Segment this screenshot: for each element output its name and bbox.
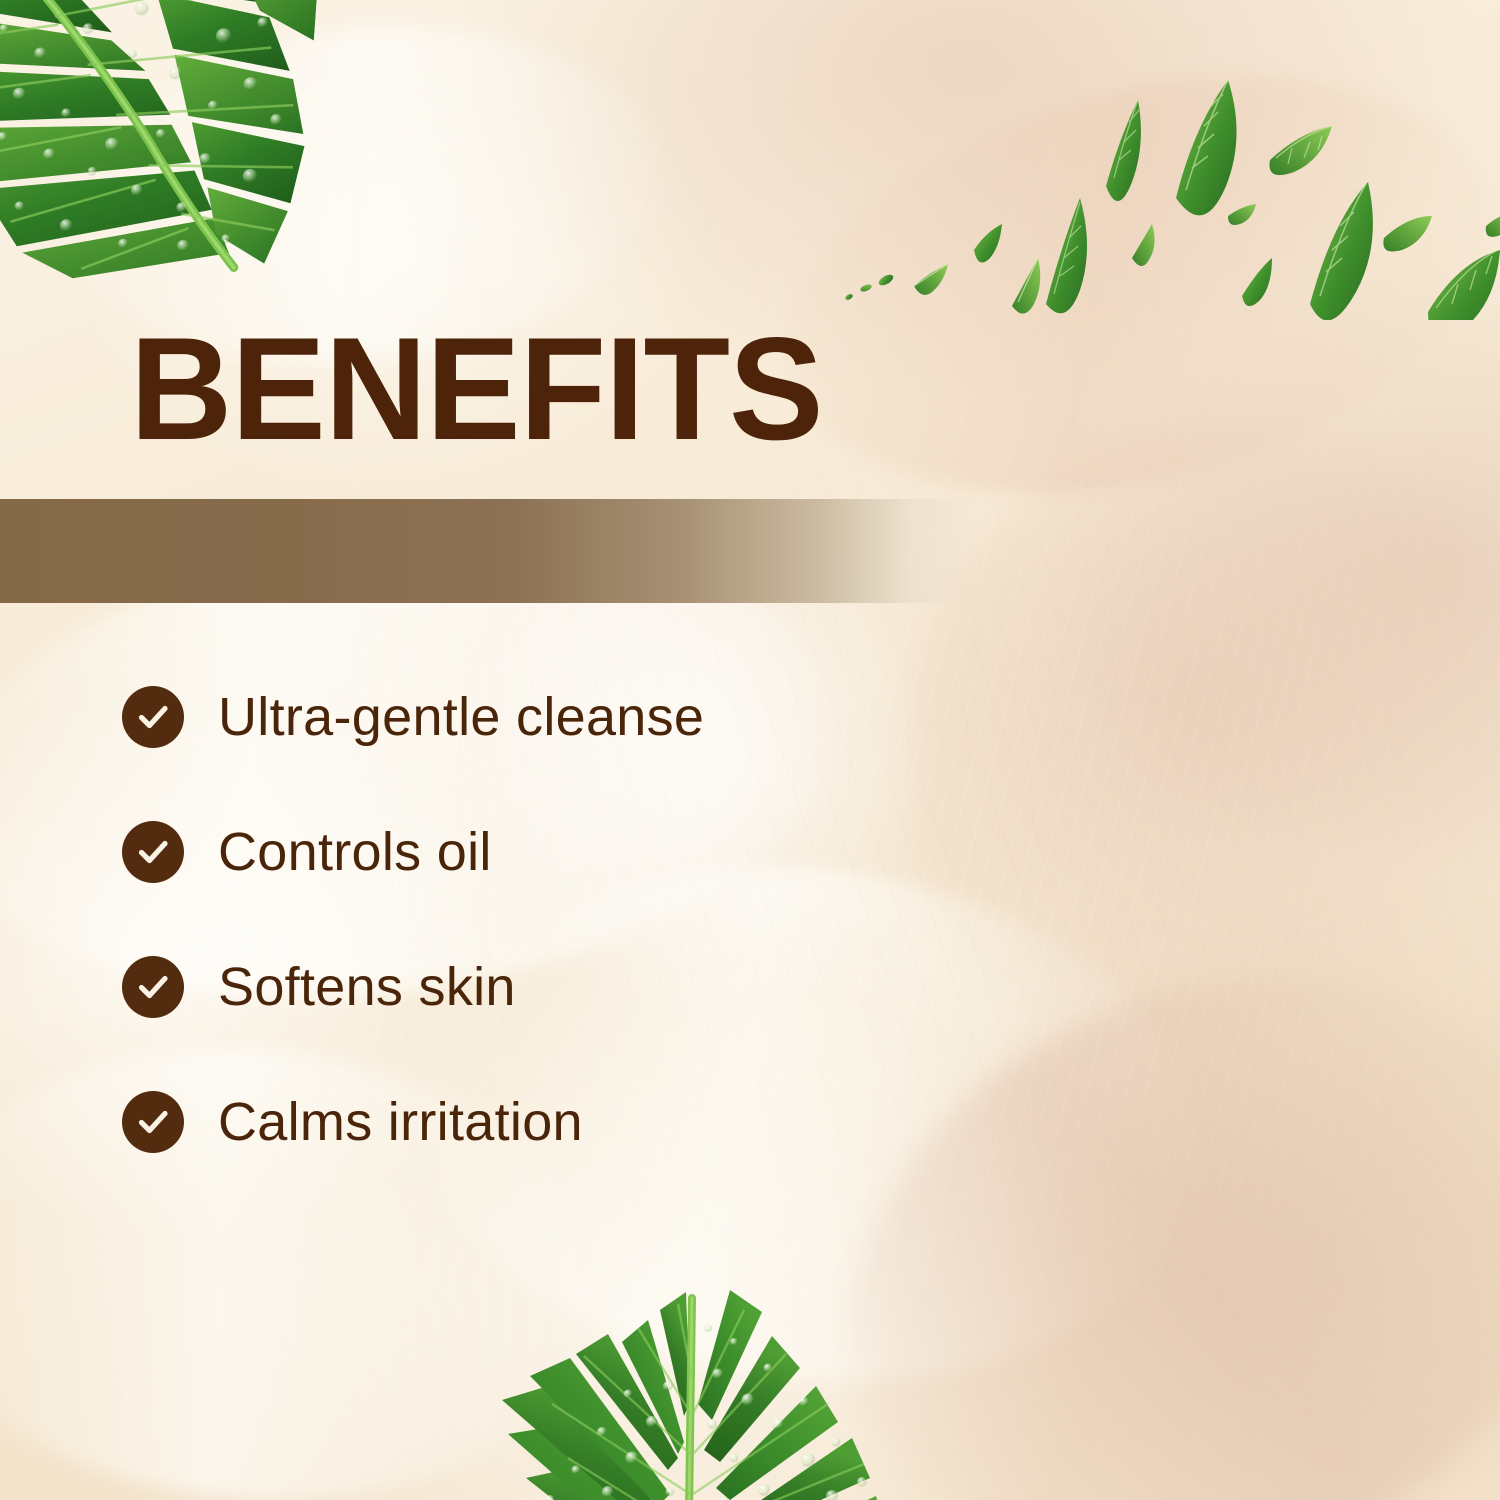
check-circle-icon — [122, 821, 184, 883]
list-item-label: Ultra-gentle cleanse — [218, 690, 704, 744]
list-item: Calms irritation — [122, 1091, 1022, 1153]
monstera-leaf-icon — [472, 1282, 904, 1500]
list-item: Ultra-gentle cleanse — [122, 686, 1022, 748]
list-item: Controls oil — [122, 821, 1022, 883]
check-circle-icon — [122, 956, 184, 1018]
check-circle-icon — [122, 686, 184, 748]
divider-bar — [0, 499, 980, 603]
list-item-label: Controls oil — [218, 825, 492, 879]
list-item: Softens skin — [122, 956, 1022, 1018]
list-item-label: Softens skin — [218, 960, 516, 1014]
mint-leaves-icon — [840, 50, 1500, 320]
page-title: BENEFITS — [130, 316, 823, 462]
list-item-label: Calms irritation — [218, 1095, 583, 1149]
check-circle-icon — [122, 1091, 184, 1153]
benefits-list: Ultra-gentle cleanse Controls oil Soften… — [122, 686, 1022, 1153]
benefits-poster: BENEFITS Ultra-gentle cleanse Controls o… — [0, 0, 1500, 1500]
monstera-leaf-icon — [0, 0, 320, 306]
